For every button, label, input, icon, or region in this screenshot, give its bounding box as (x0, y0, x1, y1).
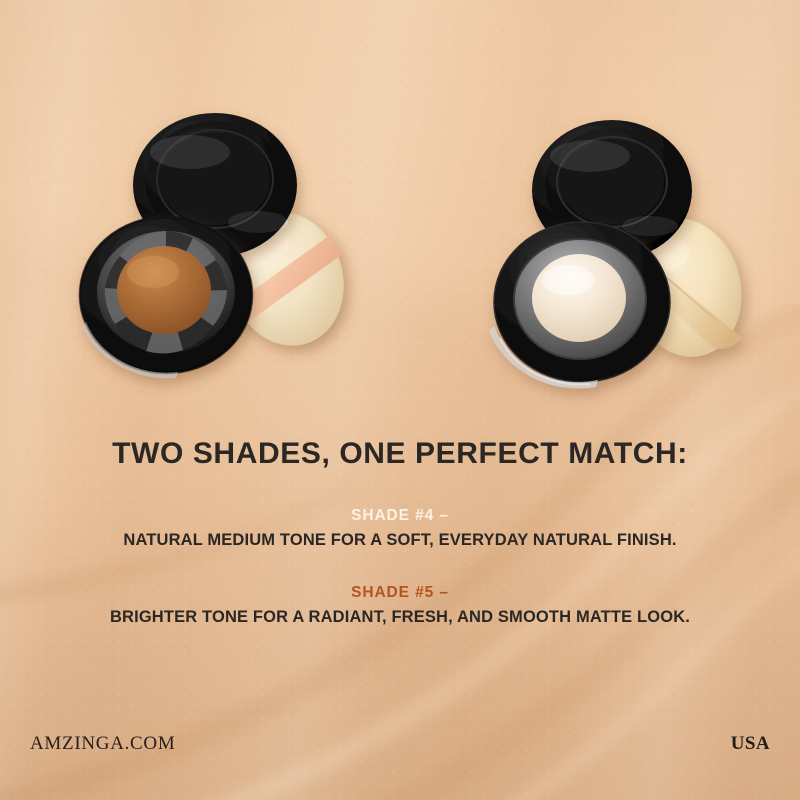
product-image-shade-4 (58, 110, 358, 395)
compact-base-left (80, 217, 252, 378)
shade-label-4: SHADE #4 – (0, 506, 800, 525)
shade-info-block-5: SHADE #5 – BRIGHTER TONE FOR A RADIANT, … (0, 583, 800, 629)
shade-label-5: SHADE #5 – (0, 583, 800, 602)
compact-base-right (489, 222, 670, 389)
footer-website[interactable]: AMZINGA.COM (30, 733, 175, 755)
shade-description-4: NATURAL MEDIUM TONE FOR A SOFT, EVERYDAY… (0, 530, 800, 551)
page-title: TWO SHADES, ONE PERFECT MATCH: (0, 437, 800, 471)
footer: AMZINGA.COM USA (0, 710, 800, 800)
shade-info-block-4: SHADE #4 – NATURAL MEDIUM TONE FOR A SOF… (0, 506, 800, 552)
shade-description-5: BRIGHTER TONE FOR A RADIANT, FRESH, AND … (0, 607, 800, 628)
product-banner: TWO SHADES, ONE PERFECT MATCH: SHADE #4 … (0, 0, 800, 800)
product-image-shade-5 (470, 112, 770, 397)
footer-region: USA (731, 733, 770, 755)
